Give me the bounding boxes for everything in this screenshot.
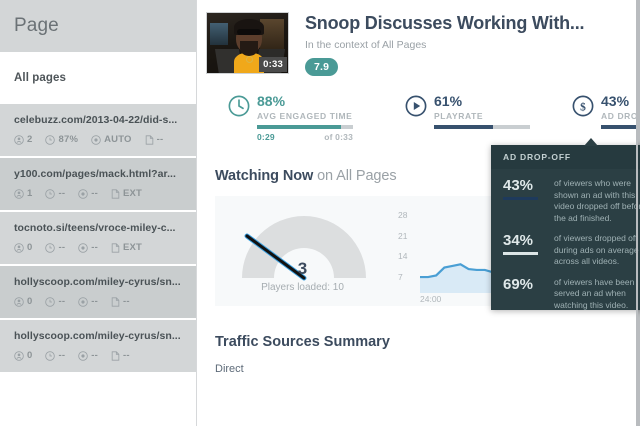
metric-bar: [434, 125, 530, 129]
metric-bar-rest: [493, 125, 530, 129]
traffic-sources-section: Traffic Sources Summary Direct: [206, 334, 638, 375]
chart-y-tick: 28: [398, 210, 407, 220]
tooltip-percent: 69%: [503, 277, 550, 292]
chart-y-tick: 14: [398, 251, 407, 261]
page-url: y100.com/pages/mack.html?ar...: [14, 168, 190, 180]
page-url: tocnoto.si/teens/vroce-miley-c...: [14, 222, 190, 234]
metric-bar-fill: [601, 125, 638, 129]
page-url: celebuzz.com/2013-04-22/did-s...: [14, 114, 190, 126]
tooltip-arrow: [584, 138, 598, 146]
video-duration-badge: 0:33: [259, 57, 287, 72]
metric-value: 88%: [257, 94, 353, 108]
tooltip-stat: 34%: [503, 233, 550, 268]
viewers-value: 1: [27, 188, 32, 199]
metric-bar: [257, 125, 353, 129]
chart-x-tick: 24:00: [420, 294, 441, 304]
tooltip-rows: 43%of viewers who were shown an ad with …: [491, 169, 640, 310]
engagement-value: --: [58, 350, 65, 361]
svg-text:$: $: [580, 101, 586, 114]
metric-bar-fill: [257, 125, 341, 129]
playmode-stat: --: [78, 350, 98, 361]
list-item[interactable]: tocnoto.si/teens/vroce-miley-c...0----EX…: [0, 212, 196, 266]
watching-now-title-sub: on All Pages: [317, 168, 396, 184]
window-right-border: [636, 0, 638, 426]
video-title: Snoop Discusses Working With...: [305, 13, 584, 34]
metric-label: AD DROP-OFF: [601, 111, 638, 121]
play-icon: [405, 95, 427, 142]
thumbnail-sunglasses: [237, 29, 261, 35]
viewers-value: 0: [27, 350, 32, 361]
all-pages-label: All pages: [14, 72, 66, 84]
metric-sub: 0:29of 0:33: [257, 132, 353, 142]
tooltip-row: 69%of viewers have been served an ad whe…: [491, 268, 640, 311]
tooltip-stat: 69%: [503, 277, 550, 311]
clock-icon: [228, 95, 250, 142]
page-stats: 0------: [14, 350, 190, 361]
tooltip-text: of viewers who were shown an ad with thi…: [550, 178, 640, 224]
engagement-value: 87%: [58, 134, 78, 145]
playmode-value: AUTO: [104, 134, 132, 145]
viewers-stat: 2: [14, 134, 32, 145]
page-stats: 0----EXT: [14, 242, 190, 253]
list-item[interactable]: hollyscoop.com/miley-cyrus/sn...0------: [0, 320, 196, 374]
metric-bar-fill: [434, 125, 493, 129]
viewers-value: 0: [27, 242, 32, 253]
players-loaded-label: Players loaded: 10: [215, 282, 390, 293]
engagement-value: --: [58, 242, 65, 253]
watching-now-title-main: Watching Now: [215, 168, 313, 184]
viewers-stat: 0: [14, 350, 32, 361]
metric-label: PLAYRATE: [434, 111, 530, 121]
playmode-value: --: [91, 350, 98, 361]
chart-y-tick: 7: [398, 272, 403, 282]
playmode-stat: --: [78, 242, 98, 253]
gauge-value: 3: [215, 259, 390, 279]
page-stats: 0------: [14, 296, 190, 307]
doc-value: --: [157, 134, 164, 145]
metric-body: 88%AVG ENGAGED TIME0:29of 0:33: [257, 94, 353, 142]
playmode-value: --: [91, 296, 98, 307]
engagement-stat: --: [45, 242, 65, 253]
tooltip-stat: 43%: [503, 178, 550, 224]
engagement-stat: --: [45, 350, 65, 361]
tooltip-row: 34%of viewers dropped off during ads on …: [491, 224, 640, 268]
metric-label: AVG ENGAGED TIME: [257, 111, 353, 121]
video-header: 0:33 Snoop Discusses Working With... In …: [206, 0, 638, 76]
tooltip-text: of viewers have been served an ad when w…: [550, 277, 640, 311]
tooltip-bar: [503, 197, 538, 200]
metrics-row: 88%AVG ENGAGED TIME0:29of 0:3361%PLAYRAT…: [206, 94, 638, 142]
doc-value: EXT: [123, 242, 142, 253]
doc-value: --: [123, 296, 130, 307]
metric-body: 61%PLAYRATE: [434, 94, 530, 142]
video-meta: Snoop Discusses Working With... In the c…: [289, 12, 584, 76]
doc-stat: EXT: [111, 188, 142, 199]
dollar-icon: $: [572, 95, 594, 142]
metric-sub-left: 0:29: [257, 132, 275, 142]
metric-value: 43%: [601, 94, 638, 108]
page-stats: 287%AUTO--: [14, 134, 190, 145]
doc-stat: --: [111, 350, 130, 361]
tooltip-bar: [503, 252, 538, 255]
engagement-value: --: [58, 188, 65, 199]
thumbnail-bg-left: [210, 23, 228, 45]
ad-dropoff-tooltip: AD DROP-OFF 43%of viewers who were shown…: [491, 145, 640, 310]
tooltip-text: of viewers dropped off during ads on ave…: [550, 233, 640, 268]
video-context: In the context of All Pages: [305, 39, 584, 51]
engagement-stat: --: [45, 188, 65, 199]
viewers-stat: 1: [14, 188, 32, 199]
viewers-value: 2: [27, 134, 32, 145]
sidebar: Page All pages celebuzz.com/2013-04-22/d…: [0, 0, 197, 426]
page-stats: 1----EXT: [14, 188, 190, 199]
thumbnail-beard: [240, 41, 258, 56]
app-window: Page All pages celebuzz.com/2013-04-22/d…: [0, 0, 640, 426]
chart-y-tick: 21: [398, 231, 407, 241]
gauge-widget: 3 Players loaded: 10: [215, 196, 390, 306]
engagement-stat: 87%: [45, 134, 78, 145]
metric-sub-right: of 0:33: [324, 132, 353, 142]
list-item[interactable]: celebuzz.com/2013-04-22/did-s...287%AUTO…: [0, 104, 196, 158]
metric-avg-engaged-time[interactable]: 88%AVG ENGAGED TIME0:29of 0:33: [228, 94, 353, 142]
tooltip-percent: 34%: [503, 233, 550, 248]
doc-stat: --: [145, 134, 164, 145]
viewers-value: 0: [27, 296, 32, 307]
tooltip-percent: 43%: [503, 178, 550, 193]
tooltip-row: 43%of viewers who were shown an ad with …: [491, 169, 640, 224]
metric-bar: [601, 125, 638, 129]
page-list: celebuzz.com/2013-04-22/did-s...287%AUTO…: [0, 104, 196, 374]
page-url: hollyscoop.com/miley-cyrus/sn...: [14, 330, 190, 342]
metric-bar-rest: [341, 125, 353, 129]
doc-value: EXT: [123, 188, 142, 199]
playmode-value: --: [91, 188, 98, 199]
page-url: hollyscoop.com/miley-cyrus/sn...: [14, 276, 190, 288]
traffic-sources-title: Traffic Sources Summary: [215, 334, 638, 350]
engagement-value: --: [58, 296, 65, 307]
metric-value: 61%: [434, 94, 530, 108]
doc-stat: --: [111, 296, 130, 307]
viewers-stat: 0: [14, 296, 32, 307]
sidebar-item-all-pages[interactable]: All pages: [0, 52, 196, 104]
video-score-badge[interactable]: 7.9: [305, 58, 338, 76]
playmode-stat: --: [78, 296, 98, 307]
metric-playrate[interactable]: 61%PLAYRATE: [405, 94, 530, 142]
engagement-stat: --: [45, 296, 65, 307]
video-thumbnail[interactable]: 0:33: [206, 12, 289, 74]
viewers-stat: 0: [14, 242, 32, 253]
doc-stat: EXT: [111, 242, 142, 253]
playmode-stat: AUTO: [91, 134, 132, 145]
metric-ad-drop-off[interactable]: $43%AD DROP-OFF: [572, 94, 638, 142]
thumbnail-chain: [246, 56, 253, 63]
traffic-source-first: Direct: [215, 363, 638, 375]
list-item[interactable]: y100.com/pages/mack.html?ar...1----EXT: [0, 158, 196, 212]
page-title: Page: [14, 15, 59, 37]
playmode-value: --: [91, 242, 98, 253]
tooltip-heading: AD DROP-OFF: [491, 145, 640, 169]
metric-body: 43%AD DROP-OFF: [601, 94, 638, 142]
doc-value: --: [123, 350, 130, 361]
sidebar-header: Page: [0, 0, 196, 52]
playmode-stat: --: [78, 188, 98, 199]
list-item[interactable]: hollyscoop.com/miley-cyrus/sn...0------: [0, 266, 196, 320]
